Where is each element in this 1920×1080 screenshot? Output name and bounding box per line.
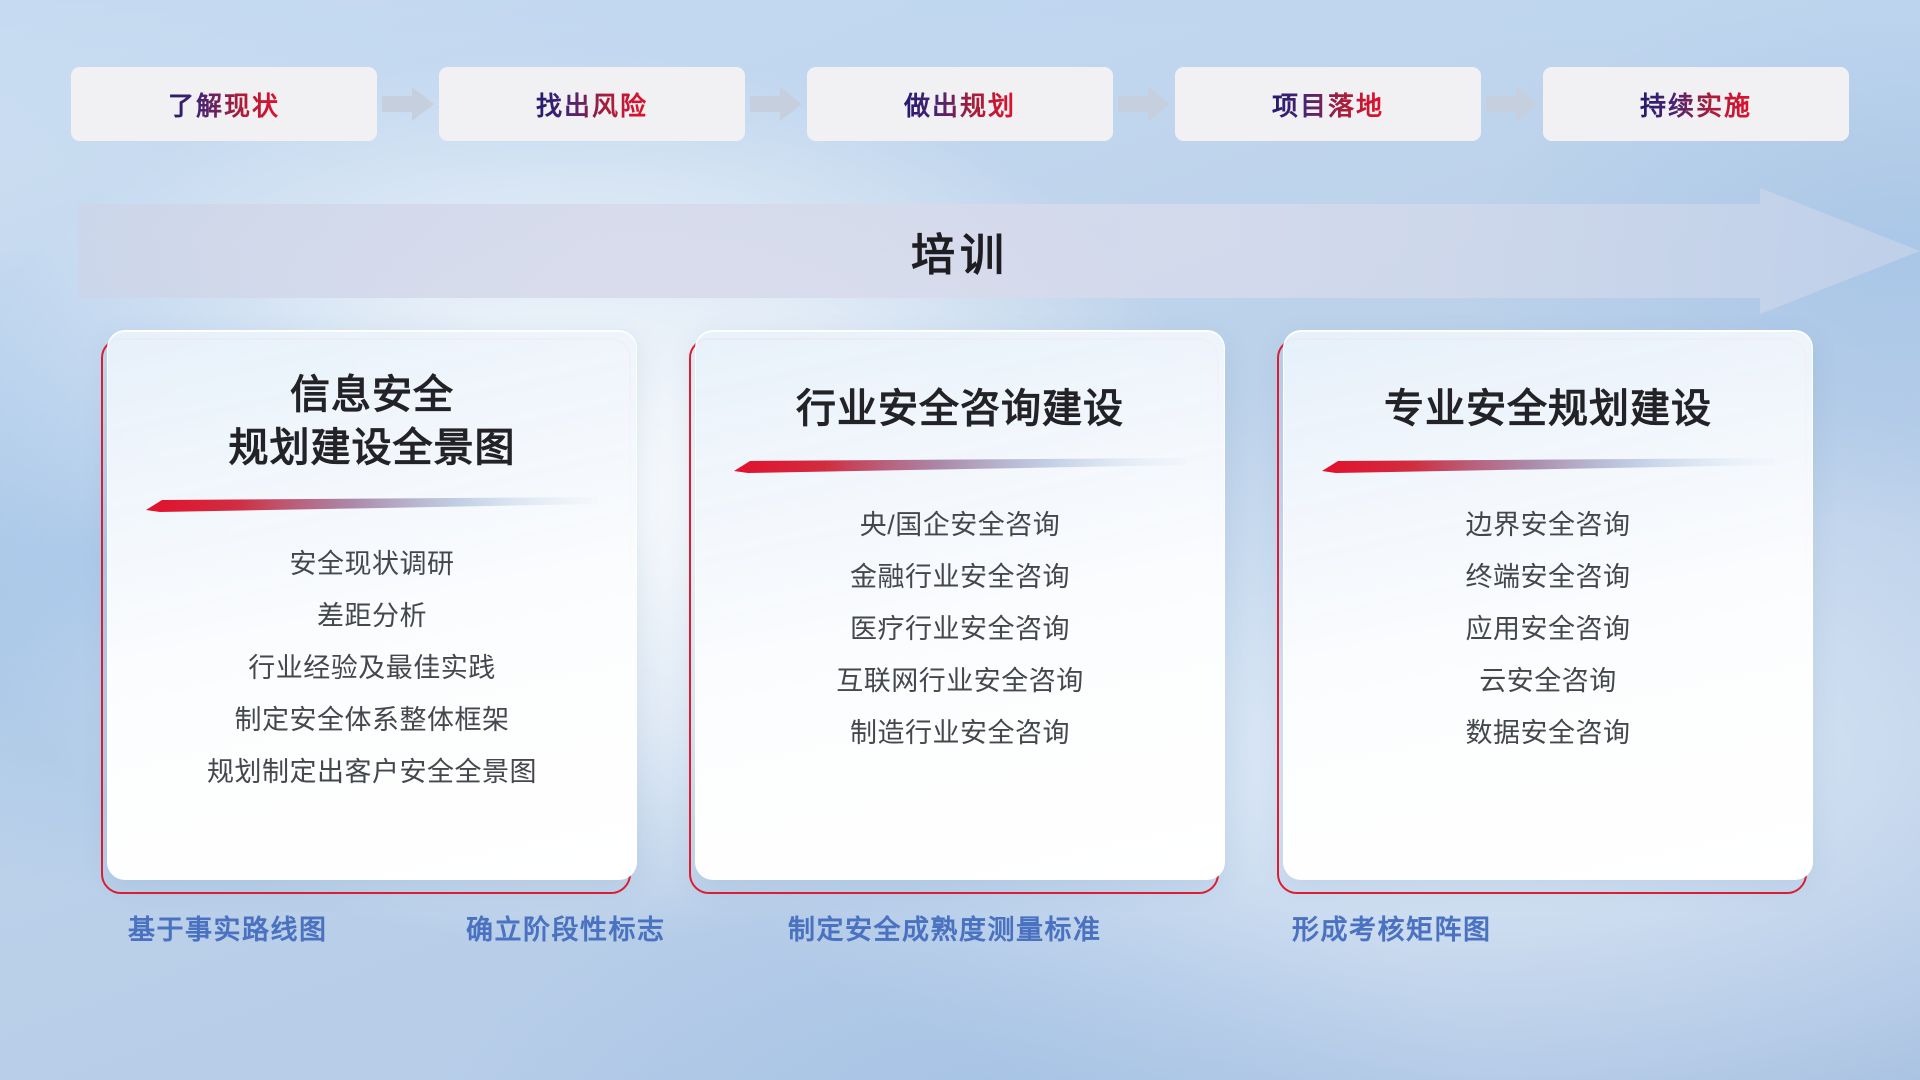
list-item: 制造行业安全咨询 [850, 707, 1070, 759]
service-card-3-list: 边界安全咨询 终端安全咨询 应用安全咨询 云安全咨询 数据安全咨询 [1284, 499, 1812, 759]
list-item: 云安全咨询 [1479, 655, 1617, 707]
process-step-4[interactable]: 项目落地 [1175, 67, 1481, 141]
service-card-3-wrapper: 专业安全规划建设 边界安全咨询 [1283, 330, 1813, 886]
process-step-1-label: 了解现状 [168, 86, 280, 123]
service-card-1-list: 安全现状调研 差距分析 行业经验及最佳实践 制定安全体系整体框架 规划制定出客户… [108, 538, 636, 798]
process-step-1[interactable]: 了解现状 [71, 67, 377, 141]
outcome-caption-row: 基于事实路线图 确立阶段性标志 制定安全成熟度测量标准 形成考核矩阵图 [0, 908, 1920, 964]
service-card-2-title: 行业安全咨询建设 [796, 383, 1124, 436]
service-card-3-title: 专业安全规划建设 [1384, 383, 1712, 436]
service-card-row: 信息安全 规划建设全景图 安全现状调研 [0, 330, 1920, 890]
process-arrow-4-icon [1481, 86, 1543, 122]
service-card-1-divider [146, 497, 598, 512]
process-step-3-label: 做出规划 [904, 86, 1016, 123]
outcome-caption-1: 基于事实路线图 [128, 908, 328, 947]
outcome-caption-4: 形成考核矩阵图 [1292, 908, 1492, 947]
process-step-5[interactable]: 持续实施 [1543, 67, 1849, 141]
list-item: 制定安全体系整体框架 [235, 694, 510, 746]
outcome-caption-2: 确立阶段性标志 [466, 908, 666, 947]
process-step-3[interactable]: 做出规划 [807, 67, 1113, 141]
service-card-1-wrapper: 信息安全 规划建设全景图 安全现状调研 [107, 330, 637, 886]
service-card-1-title: 信息安全 规划建设全景图 [229, 369, 516, 475]
list-item: 应用安全咨询 [1466, 603, 1631, 655]
list-item: 互联网行业安全咨询 [836, 655, 1084, 707]
list-item: 安全现状调研 [290, 538, 455, 590]
list-item: 金融行业安全咨询 [850, 551, 1070, 603]
process-arrow-3-icon [1113, 86, 1175, 122]
list-item: 央/国企安全咨询 [860, 499, 1061, 551]
list-item: 行业经验及最佳实践 [248, 642, 496, 694]
list-item: 规划制定出客户安全全景图 [207, 746, 537, 798]
list-item: 差距分析 [317, 590, 427, 642]
service-card-2[interactable]: 行业安全咨询建设 央/国企安全咨询 [695, 330, 1225, 880]
training-banner-arrow-shape [0, 188, 1920, 314]
list-item: 终端安全咨询 [1466, 551, 1631, 603]
list-item: 医疗行业安全咨询 [850, 603, 1070, 655]
process-arrow-1-icon [377, 86, 439, 122]
process-arrow-2-icon [745, 86, 807, 122]
service-card-2-list: 央/国企安全咨询 金融行业安全咨询 医疗行业安全咨询 互联网行业安全咨询 制造行… [696, 499, 1224, 759]
process-step-2-label: 找出风险 [536, 86, 648, 123]
process-step-4-label: 项目落地 [1272, 86, 1384, 123]
process-step-2[interactable]: 找出风险 [439, 67, 745, 141]
service-card-2-divider [734, 458, 1186, 473]
process-step-5-label: 持续实施 [1640, 86, 1752, 123]
process-step-strip: 了解现状 找出风险 做出规划 项目落地 持续实施 [0, 64, 1920, 144]
list-item: 边界安全咨询 [1466, 499, 1631, 551]
service-card-2-wrapper: 行业安全咨询建设 央/国企安全咨询 [695, 330, 1225, 886]
service-card-3[interactable]: 专业安全规划建设 边界安全咨询 [1283, 330, 1813, 880]
outcome-caption-3: 制定安全成熟度测量标准 [788, 908, 1102, 947]
list-item: 数据安全咨询 [1466, 707, 1631, 759]
service-card-1[interactable]: 信息安全 规划建设全景图 安全现状调研 [107, 330, 637, 880]
service-card-3-divider [1322, 458, 1774, 473]
